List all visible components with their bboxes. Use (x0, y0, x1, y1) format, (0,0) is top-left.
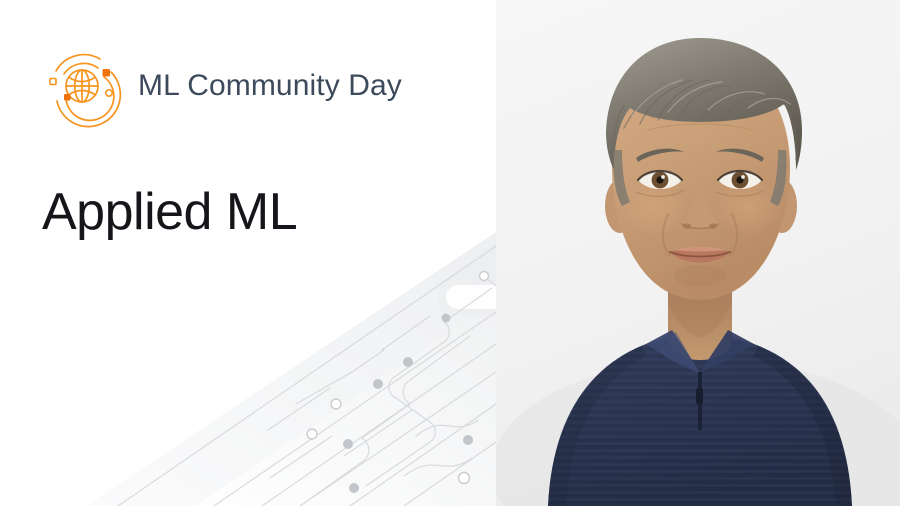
presentation-slide: ML Community Day Applied ML (0, 0, 900, 506)
zip-pull (696, 388, 703, 404)
speaker-photo-panel (496, 0, 900, 506)
left-content-panel: ML Community Day Applied ML (0, 0, 496, 506)
orbit-node-square-filled-lower (64, 94, 71, 101)
orbit-node-circle-hollow (106, 90, 112, 96)
brand-lockup: ML Community Day (40, 44, 402, 128)
orbit-node-square-filled (103, 69, 111, 77)
brand-name: ML Community Day (138, 71, 402, 101)
globe-orbit-icon (40, 44, 124, 128)
page-title: Applied ML (42, 183, 297, 243)
orbit-node-square-hollow (50, 79, 56, 85)
speaker-portrait-icon (496, 0, 900, 506)
